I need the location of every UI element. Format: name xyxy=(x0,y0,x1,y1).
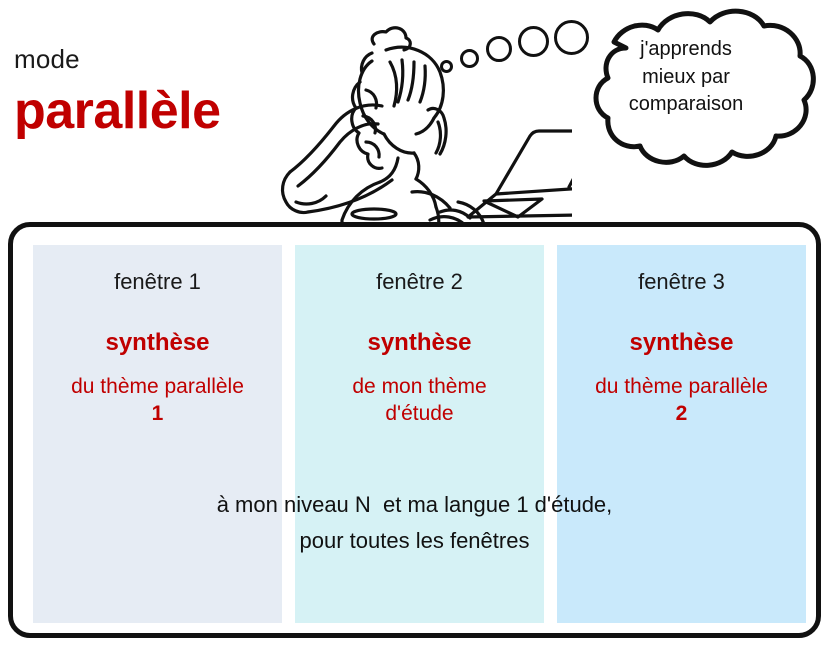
mode-title: parallèle xyxy=(14,85,221,137)
thought-line-1: j'apprends xyxy=(556,36,816,64)
window-panel-1[interactable]: fenêtre 1 synthèse du thème parallèle 1 xyxy=(33,245,282,623)
panel-3-title: fenêtre 3 xyxy=(557,269,806,295)
panel-3-subtitle-text: du thème parallèle xyxy=(595,375,768,398)
mode-label: mode xyxy=(14,44,80,75)
panel-1-subtitle-text: du thème parallèle xyxy=(71,375,244,398)
panel-2-title: fenêtre 2 xyxy=(295,269,544,295)
window-panel-3[interactable]: fenêtre 3 synthèse du thème parallèle 2 xyxy=(557,245,806,623)
panel-1-title: fenêtre 1 xyxy=(33,269,282,295)
thought-line-2: mieux par xyxy=(556,64,816,92)
panel-3-number: 2 xyxy=(557,401,806,427)
panel-2-number: d'étude xyxy=(295,401,544,427)
thought-dot-1 xyxy=(440,60,453,73)
thought-dot-3 xyxy=(486,36,512,62)
panel-3-subtitle: du thème parallèle 2 xyxy=(557,374,806,427)
thought-line-3: comparaison xyxy=(556,91,816,119)
thought-dot-2 xyxy=(460,49,479,68)
panel-1-synthese: synthèse xyxy=(33,329,282,358)
thought-cloud-text: j'apprends mieux par comparaison xyxy=(556,36,816,119)
panel-2-subtitle-text: de mon thème xyxy=(352,375,486,398)
parallel-mode-panel-container: fenêtre 1 synthèse du thème parallèle 1 … xyxy=(8,222,821,638)
panel-3-synthese: synthèse xyxy=(557,329,806,358)
panel-2-synthese: synthèse xyxy=(295,329,544,358)
panel-2-subtitle: de mon thème d'étude xyxy=(295,374,544,427)
window-panels: fenêtre 1 synthèse du thème parallèle 1 … xyxy=(33,245,806,623)
header-area: mode parallèle xyxy=(0,0,829,222)
window-panel-2[interactable]: fenêtre 2 synthèse de mon thème d'étude xyxy=(295,245,544,623)
thought-dot-4 xyxy=(518,26,549,57)
panel-1-subtitle: du thème parallèle 1 xyxy=(33,374,282,427)
panel-1-number: 1 xyxy=(33,401,282,427)
